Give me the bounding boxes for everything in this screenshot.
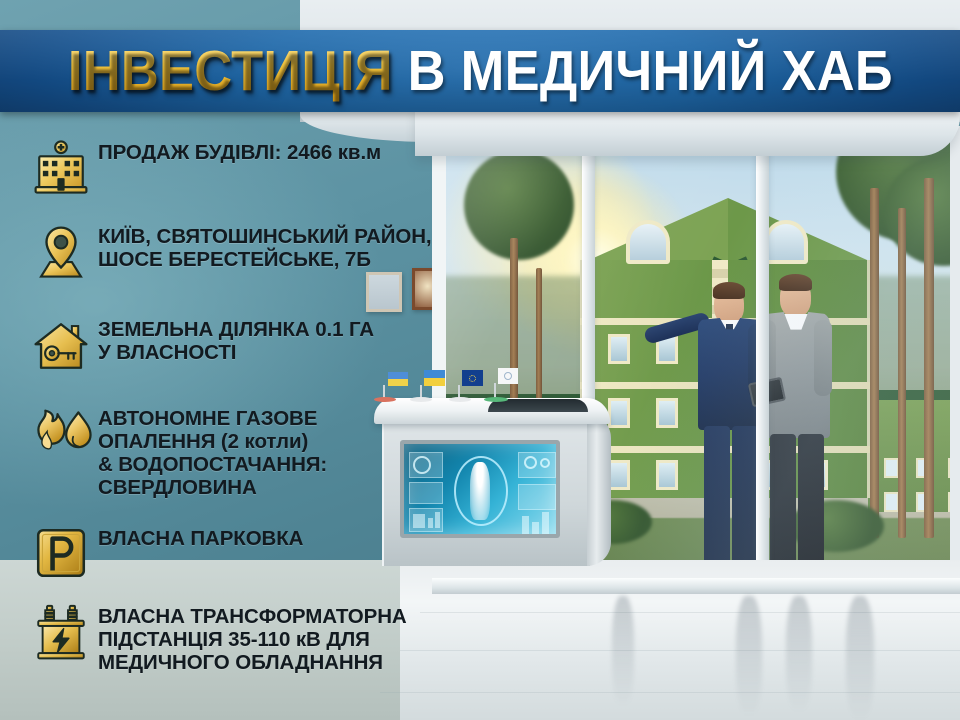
pine-trunk (870, 188, 879, 538)
hud-bar (532, 522, 539, 534)
feature-line: & ВОДОПОСТАЧАННЯ: (98, 454, 327, 477)
headline-banner: ІНВЕСТИЦІЯ В МЕДИЧНИЙ ХАБ (0, 30, 960, 112)
map-pin-icon (24, 224, 98, 282)
floor-reflection (612, 596, 634, 706)
hud-bar (542, 512, 549, 534)
feature-line: ПІДСТАНЦІЯ 35-110 кВ ДЛЯ (98, 629, 407, 652)
floor-seam (420, 612, 960, 613)
flame-droplet-icon (24, 406, 98, 464)
parking-sign-icon (24, 526, 98, 580)
feature-line: МЕДИЧНОГО ОБЛАДНАННЯ (98, 652, 407, 675)
hud-panel (518, 484, 556, 510)
hud-bar (413, 514, 425, 528)
feature-item-substation: ВЛАСНА ТРАНСФОРМАТОРНА ПІДСТАНЦІЯ 35-110… (24, 604, 407, 675)
feature-line: ЗЕМЕЛЬНА ДІЛЯНКА 0.1 ГА (98, 319, 374, 342)
feature-text: КИЇВ, СВЯТОШИНСЬКИЙ РАЙОН, ШОСЕ БЕРЕСТЕЙ… (98, 224, 432, 272)
flag-base (374, 397, 396, 402)
feature-item-address: КИЇВ, СВЯТОШИНСЬКИЙ РАЙОН, ШОСЕ БЕРЕСТЕЙ… (24, 224, 432, 282)
ceiling-soffit (415, 108, 960, 156)
feature-line: СВЕРДЛОВИНА (98, 477, 327, 500)
hud-gauge (524, 456, 537, 469)
feature-line: КИЇВ, СВЯТОШИНСЬКИЙ РАЙОН, (98, 226, 432, 249)
white-flag (494, 368, 514, 382)
floor-reflection (736, 596, 762, 716)
pine-canopy (464, 150, 574, 260)
floor-seam (400, 650, 960, 651)
feature-line: ОПАЛЕННЯ (2 котли) (98, 431, 327, 454)
building-window (656, 460, 678, 490)
right-arm (814, 320, 832, 396)
building-window (656, 398, 678, 428)
reception-desk (378, 398, 606, 566)
pine-trunk (924, 178, 934, 538)
feature-text: ВЛАСНА ТРАНСФОРМАТОРНА ПІДСТАНЦІЯ 35-110… (98, 604, 407, 675)
feature-item-heating-water: АВТОНОМНЕ ГАЗОВЕ ОПАЛЕННЯ (2 котли) & ВО… (24, 406, 327, 500)
feature-line: У ВЛАСНОСТІ (98, 342, 374, 365)
building-window (608, 398, 630, 428)
feature-item-parking: ВЛАСНА ПАРКОВКА (24, 526, 303, 580)
window-sill (432, 578, 960, 594)
transformer-icon (24, 604, 98, 662)
hud-panel (409, 482, 443, 504)
feature-item-land-plot: ЗЕМЕЛЬНА ДІЛЯНКА 0.1 ГА У ВЛАСНОСТІ (24, 317, 374, 375)
floor-reflection (846, 596, 874, 720)
headline-rest: В МЕДИЧНИЙ ХАБ (392, 39, 892, 103)
pine-trunk (898, 208, 906, 538)
feature-text: ВЛАСНА ПАРКОВКА (98, 526, 303, 551)
feature-text: ЗЕМЕЛЬНА ДІЛЯНКА 0.1 ГА У ВЛАСНОСТІ (98, 317, 374, 365)
eu-flag (458, 370, 478, 384)
building-wing-right (868, 390, 960, 512)
medical-info-display[interactable] (400, 440, 560, 538)
building-window (608, 460, 630, 490)
feature-line: ВЛАСНА ПАРКОВКА (98, 528, 303, 551)
floor-reflection (786, 596, 812, 712)
ukraine-flag (420, 370, 440, 384)
house-key-icon (24, 317, 98, 375)
building-window (608, 334, 630, 364)
poster-canvas: ІНВЕСТИЦІЯ В МЕДИЧНИЙ ХАБ (0, 0, 960, 720)
flag-base (484, 397, 508, 402)
hud-bar (522, 516, 529, 534)
feature-item-building-area: ПРОДАЖ БУДІВЛІ: 2466 кв.м (24, 140, 381, 198)
floor-seam (380, 692, 960, 693)
attic-window-left (626, 220, 670, 264)
human-body-hologram (470, 462, 490, 520)
feature-line: ВЛАСНА ТРАНСФОРМАТОРНА (98, 606, 407, 629)
feature-text: ПРОДАЖ БУДІВЛІ: 2466 кв.м (98, 140, 381, 165)
hud-gauge (540, 458, 550, 468)
ukraine-flag (384, 372, 404, 386)
left-leg (704, 426, 730, 576)
window-mullion (756, 126, 769, 596)
headline-text: ІНВЕСТИЦІЯ В МЕДИЧНИЙ ХАБ (68, 43, 893, 100)
feature-line: ПРОДАЖ БУДІВЛІ: 2466 кв.м (98, 142, 381, 165)
hospital-building-icon (24, 140, 98, 198)
hair (713, 282, 745, 299)
attic-window-right (764, 220, 808, 264)
flag-base (410, 397, 432, 402)
feature-text: АВТОНОМНЕ ГАЗОВЕ ОПАЛЕННЯ (2 котли) & ВО… (98, 406, 327, 500)
hud-bar (435, 512, 440, 528)
feature-line: АВТОНОМНЕ ГАЗОВЕ (98, 408, 327, 431)
hair (779, 274, 812, 291)
flag-base (449, 397, 471, 402)
desk-side-panel (587, 414, 611, 566)
headline-highlight: ІНВЕСТИЦІЯ (68, 39, 393, 103)
hud-bar (428, 518, 433, 528)
feature-line: ШОСЕ БЕРЕСТЕЙСЬКЕ, 7Б (98, 249, 432, 272)
hud-gauge (413, 456, 431, 474)
